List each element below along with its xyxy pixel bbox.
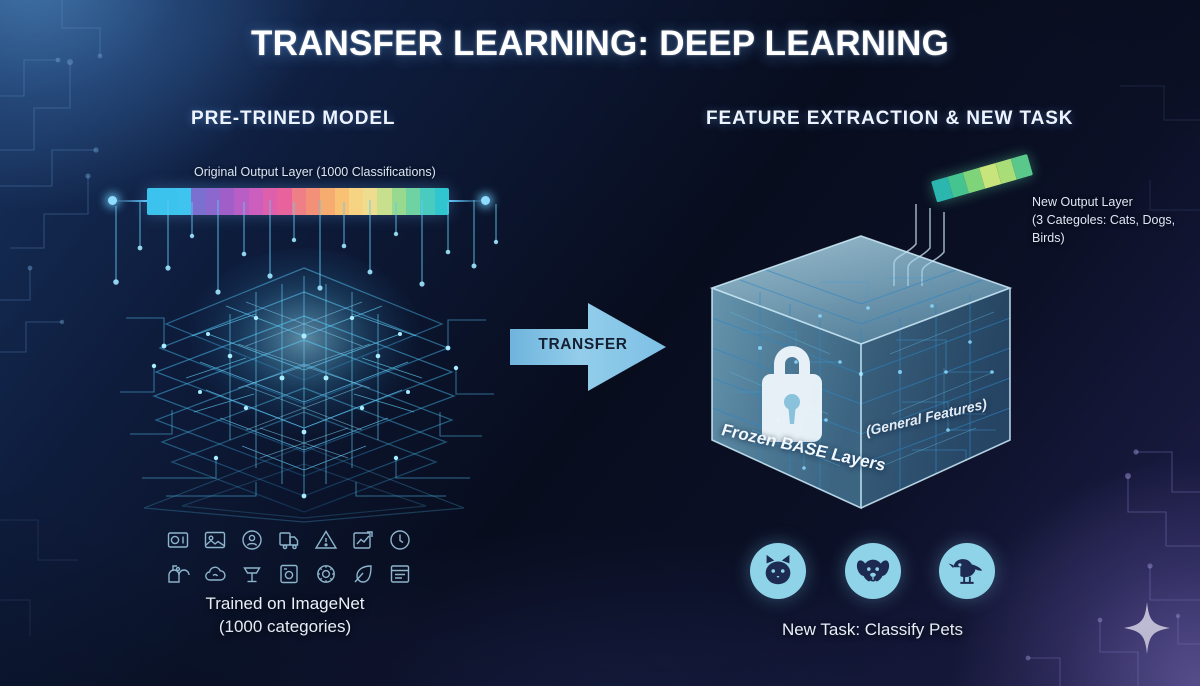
new-output-layer-caption: New Output Layer (3 Categoles: Cats, Dog… [1032, 194, 1200, 247]
mailbox-icon [166, 562, 190, 586]
image-icon [203, 528, 227, 552]
original-output-layer-caption: Original Output Layer (1000 Classificati… [194, 165, 436, 179]
dog-icon-badge [845, 543, 901, 599]
transfer-label: TRANSFER [531, 336, 635, 354]
new-output-layer-bar [931, 154, 1033, 203]
bird-icon [948, 552, 986, 590]
camera-icon [166, 528, 190, 552]
dog-icon [854, 552, 892, 590]
washer-icon [277, 562, 301, 586]
page-title: TRANSFER LEARNING: DEEP LEARNING [0, 24, 1200, 64]
imagenet-category-icons [160, 528, 418, 586]
portrait-icon [240, 528, 264, 552]
cloud-icon [203, 562, 227, 586]
imagenet-label-line2: (1000 categories) [100, 615, 470, 638]
book-icon [388, 562, 412, 586]
leaf-icon [351, 562, 375, 586]
bird-icon-badge [939, 543, 995, 599]
infographic-canvas: TRANSFER LEARNING: DEEP LEARNING PRE-TRI… [0, 0, 1200, 686]
new-output-layer-subtitle: (3 Categoles: Cats, Dogs, Birds) [1032, 212, 1200, 248]
truck-icon [277, 528, 301, 552]
imagenet-training-label: Trained on ImageNet (1000 categories) [100, 592, 470, 639]
table-lamp-icon [240, 562, 264, 586]
new-task-pet-icons [750, 543, 995, 599]
imagenet-label-line1: Trained on ImageNet [100, 592, 470, 615]
section-heading-feature-extraction: FEATURE EXTRACTION & NEW TASK [706, 108, 1073, 130]
cat-icon-badge [750, 543, 806, 599]
chart-growth-icon [351, 528, 375, 552]
new-task-label: New Task: Classify Pets [700, 618, 1045, 641]
clock-icon [388, 528, 412, 552]
four-point-star-icon [1124, 602, 1170, 654]
new-output-layer-title: New Output Layer [1032, 194, 1200, 212]
gear-flower-icon [314, 562, 338, 586]
cat-icon [759, 552, 797, 590]
frozen-base-cube [700, 222, 1022, 522]
pretrained-network-graphic [96, 196, 516, 526]
warning-triangle-icon [314, 528, 338, 552]
section-heading-pretrained: PRE-TRINED MODEL [191, 108, 395, 130]
